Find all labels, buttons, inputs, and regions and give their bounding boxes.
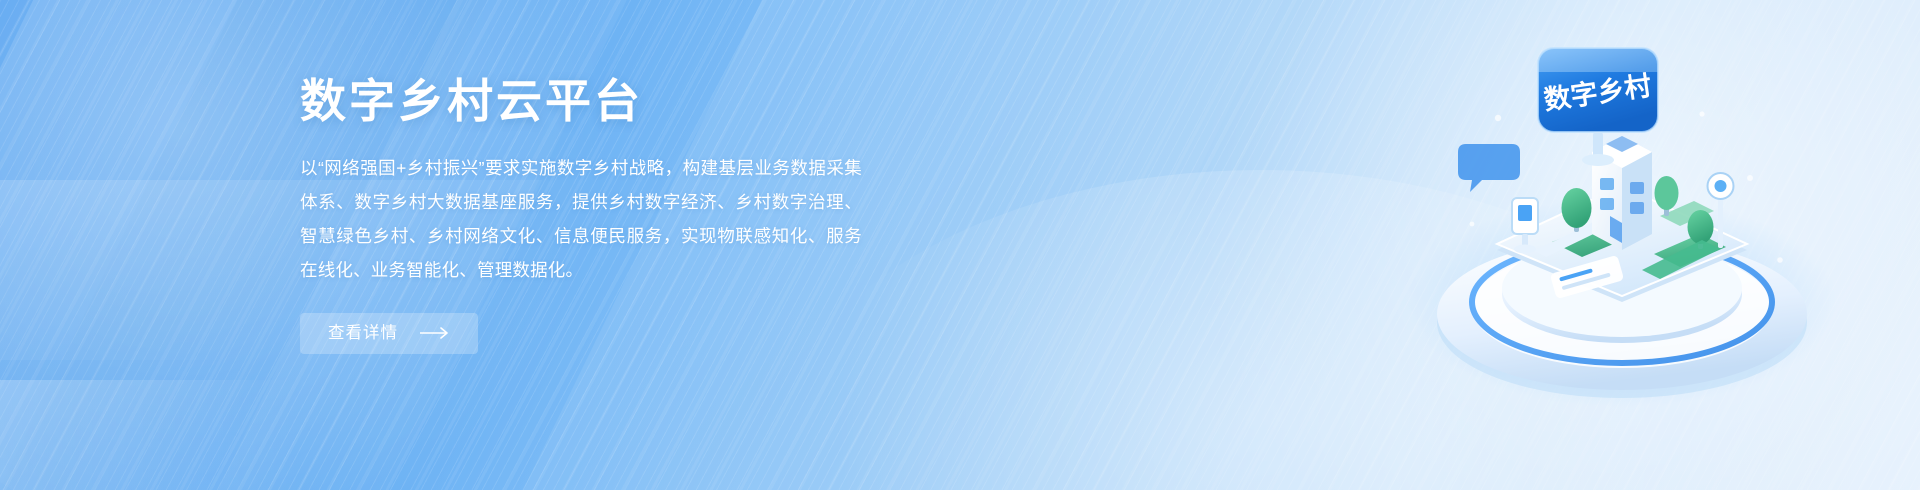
hero-banner: 数字乡村云平台 以“网络强国+乡村振兴”要求实施数字乡村战略，构建基层业务数据采…	[0, 0, 1920, 490]
arrow-right-icon	[420, 327, 452, 339]
banner-description: 以“网络强国+乡村振兴”要求实施数字乡村战略，构建基层业务数据采集体系、数字乡村…	[300, 151, 862, 287]
banner-content: 数字乡村云平台 以“网络强国+乡村振兴”要求实施数字乡村战略，构建基层业务数据采…	[300, 74, 900, 354]
chat-bubble-icon	[1458, 144, 1520, 192]
banner-title: 数字乡村云平台	[300, 74, 900, 129]
digital-village-illustration: 数字乡村	[1402, 2, 1842, 422]
view-details-button[interactable]: 查看详情	[300, 313, 478, 354]
view-details-label: 查看详情	[328, 325, 398, 342]
